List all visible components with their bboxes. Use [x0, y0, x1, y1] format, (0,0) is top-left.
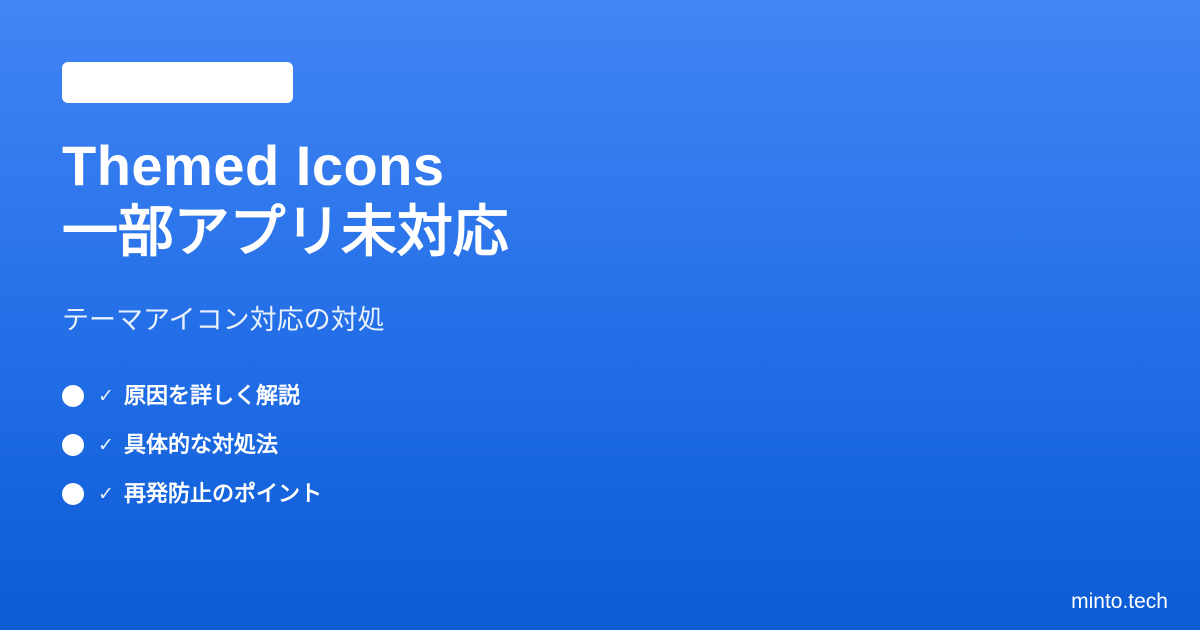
site-name: minto.tech: [1071, 591, 1168, 612]
page-title-line-1: Themed Icons: [62, 133, 508, 199]
page-title-line-2: 一部アプリ未対応: [62, 199, 508, 265]
feature-list: ✓ 原因を詳しく解説 ✓ 具体的な対処法 ✓ 再発防止のポイント: [62, 381, 322, 509]
check-icon: ✓: [95, 485, 117, 504]
page-subtitle: テーマアイコン対応の対処: [62, 303, 385, 337]
bullet-dot-icon: [62, 434, 84, 456]
list-item-label: 再発防止のポイント: [124, 479, 322, 509]
category-badge: [62, 62, 293, 103]
list-item: ✓ 具体的な対処法: [62, 430, 322, 460]
page-title: Themed Icons 一部アプリ未対応: [62, 133, 508, 265]
check-icon: ✓: [95, 436, 117, 455]
list-item: ✓ 原因を詳しく解説: [62, 381, 322, 411]
bullet-dot-icon: [62, 483, 84, 505]
ogp-card: Themed Icons 一部アプリ未対応 テーマアイコン対応の対処 ✓ 原因を…: [0, 0, 1200, 630]
list-item-label: 具体的な対処法: [124, 430, 278, 460]
check-icon: ✓: [95, 387, 117, 406]
list-item: ✓ 再発防止のポイント: [62, 479, 322, 509]
list-item-label: 原因を詳しく解説: [124, 381, 300, 411]
bullet-dot-icon: [62, 385, 84, 407]
